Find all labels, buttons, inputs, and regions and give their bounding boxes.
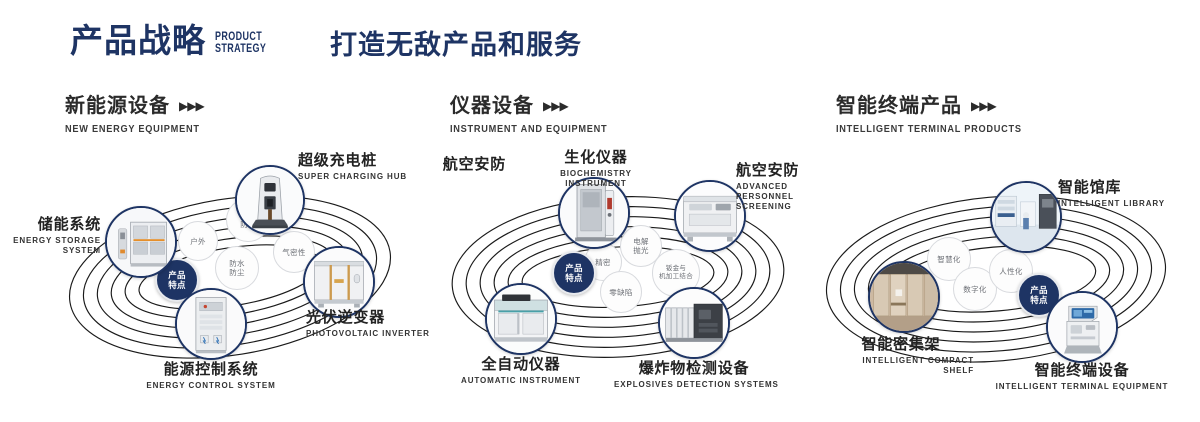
section-heading-cn: 智能终端产品 ▶▶▶ (836, 96, 1038, 116)
caption-cn: 超级充电桩 (298, 153, 407, 169)
caption-cn: 全自动仪器 (436, 357, 606, 373)
diagram-instrument: 精密 电解 抛光 钣金与 机加工结合 零缺陷 产品 特点 航空安防 (418, 155, 818, 405)
caption-cn: 能源控制系统 (86, 362, 336, 378)
caption-terminal-kiosk: 智能终端设备 INTELLIGENT TERMINAL EQUIPMENT (992, 363, 1172, 392)
section-heading-en: INSTRUMENT AND EQUIPMENT (450, 124, 607, 135)
feature-bubble-label: 零缺陷 (609, 288, 632, 297)
caption-en: PHOTOVOLTAIC INVERTER (306, 329, 430, 339)
caption-cn: 智能密集架 (796, 337, 1006, 353)
infographic-canvas: 产品战略 PRODUCT STRATEGY 打造无敌产品和服务 新能源设备 ▶▶… (0, 0, 1200, 422)
diagram-intelligent-terminal: 智慧化 数字化 人性化 产品 特点 (800, 155, 1200, 405)
feature-bubble-label: 户外 (190, 237, 206, 246)
node-photo-terminal-kiosk[interactable] (1046, 291, 1118, 363)
section-heading-instrument: 仪器设备 ▶▶▶ INSTRUMENT AND EQUIPMENT (450, 96, 621, 135)
node-photo-pv-inverter[interactable] (303, 246, 375, 318)
caption-en: EXPLOSIVES DETECTION SYSTEMS (614, 380, 774, 390)
terminal-kiosk-icon (1048, 293, 1116, 361)
node-photo-explosives-detector[interactable] (658, 287, 730, 359)
feature-bubble: 零缺陷 (600, 271, 642, 313)
core-badge-line1: 产品 (565, 263, 583, 273)
page-title-en-line1: PRODUCT (215, 32, 266, 44)
caption-cn: 智能终端设备 (992, 363, 1172, 379)
chevron-right-icon: ▶▶▶ (971, 100, 996, 112)
compact-shelf-icon (870, 263, 938, 331)
screening-machine-icon (676, 182, 744, 250)
caption-cn: 生化仪器 (526, 150, 666, 166)
section-heading-en: INTELLIGENT TERMINAL PRODUCTS (836, 124, 1022, 135)
section-heading-text: 新能源设备 (65, 96, 170, 116)
caption-aviation-security-left: 航空安防 (396, 157, 506, 173)
chevron-right-icon: ▶▶▶ (179, 100, 204, 112)
core-badge-line1: 产品 (1030, 285, 1048, 295)
core-badge-line2: 特点 (565, 273, 583, 283)
caption-cn: 光伏逆变器 (306, 310, 430, 326)
caption-cn: 爆炸物检测设备 (614, 361, 774, 377)
caption-en: ENERGY STORAGE SYSTEM (6, 236, 101, 256)
chevron-right-icon: ▶▶▶ (543, 100, 568, 112)
control-cabinet-icon (177, 290, 245, 358)
caption-cn: 储能系统 (6, 217, 101, 233)
node-photo-energy-control[interactable] (175, 288, 247, 360)
caption-energy-control: 能源控制系统 ENERGY CONTROL SYSTEM (86, 362, 336, 391)
caption-en: INTELLIGENT COMPACT SHELF (796, 356, 1006, 376)
caption-cn: 航空安防 (396, 157, 506, 173)
page-title-cn: 产品战略 (70, 24, 206, 57)
core-badge-product-features: 产品 特点 (552, 251, 596, 295)
section-heading-cn: 仪器设备 ▶▶▶ (450, 96, 621, 116)
caption-compact-shelf: 智能密集架 INTELLIGENT COMPACT SHELF (796, 337, 1006, 376)
page-subtitle: 打造无敌产品和服务 (330, 32, 582, 59)
feature-bubble: 防水 防尘 (215, 246, 259, 290)
feature-bubble: 户外 (178, 221, 218, 261)
section-heading-text: 智能终端产品 (836, 96, 962, 116)
section-heading-new-energy: 新能源设备 ▶▶▶ NEW ENERGY EQUIPMENT (65, 96, 211, 135)
feature-bubble-label: 数字化 (963, 285, 986, 294)
caption-en: ENERGY CONTROL SYSTEM (86, 381, 336, 391)
feature-bubble-label: 电解 抛光 (633, 237, 649, 255)
caption-charging-hub: 超级充电桩 SUPER CHARGING HUB (298, 153, 407, 182)
feature-bubble-label: 气密性 (282, 248, 305, 257)
node-photo-charging-hub[interactable] (235, 165, 305, 235)
caption-cn: 智能馆库 (1058, 180, 1165, 196)
node-photo-automatic-instrument[interactable] (485, 283, 557, 355)
section-heading-intelligent-terminal: 智能终端产品 ▶▶▶ INTELLIGENT TERMINAL PRODUCTS (836, 96, 1038, 135)
node-photo-smart-library[interactable] (990, 181, 1062, 253)
page-title-en-line2: STRATEGY (215, 44, 266, 56)
feature-bubble-label: 精密 (595, 258, 611, 267)
page-title-en: PRODUCT STRATEGY (215, 32, 266, 55)
pv-inverter-icon (305, 248, 373, 316)
caption-biochem-instrument: 生化仪器 BIOCHEMISTRY INSTRUMENT (526, 150, 666, 189)
caption-automatic-instrument: 全自动仪器 AUTOMATIC INSTRUMENT (436, 357, 606, 386)
automatic-instrument-icon (487, 285, 555, 353)
caption-en: INTELLIGENT LIBRARY (1058, 199, 1165, 209)
feature-bubble-label: 防水 防尘 (229, 259, 245, 277)
feature-bubble-label: 智慧化 (937, 255, 960, 264)
section-heading-en: NEW ENERGY EQUIPMENT (65, 124, 200, 135)
diagram-new-energy: 户外 防腐 防锈 防水 防尘 气密性 产品 特点 (30, 155, 430, 405)
page-title: 产品战略 PRODUCT STRATEGY (70, 24, 281, 57)
caption-en: INTELLIGENT TERMINAL EQUIPMENT (992, 382, 1172, 392)
charging-pile-icon (237, 167, 303, 233)
node-photo-energy-storage[interactable] (105, 206, 177, 278)
caption-en: SUPER CHARGING HUB (298, 172, 407, 182)
smart-library-icon (992, 183, 1060, 251)
biochem-instrument-icon (560, 179, 628, 247)
feature-bubble-label: 钣金与 机加工结合 (659, 265, 693, 281)
core-badge-line2: 特点 (168, 280, 186, 290)
node-photo-compact-shelf[interactable] (868, 261, 940, 333)
caption-en: AUTOMATIC INSTRUMENT (436, 376, 606, 386)
section-heading-text: 仪器设备 (450, 96, 534, 116)
caption-en: BIOCHEMISTRY INSTRUMENT (526, 169, 666, 189)
caption-pv-inverter: 光伏逆变器 PHOTOVOLTAIC INVERTER (306, 310, 430, 339)
caption-explosives-detector: 爆炸物检测设备 EXPLOSIVES DETECTION SYSTEMS (614, 361, 774, 390)
caption-smart-library: 智能馆库 INTELLIGENT LIBRARY (1058, 180, 1165, 209)
feature-bubble-label: 人性化 (999, 267, 1022, 276)
battery-cabinet-icon (107, 208, 175, 276)
caption-energy-storage: 储能系统 ENERGY STORAGE SYSTEM (6, 217, 101, 256)
explosives-detector-icon (660, 289, 728, 357)
core-badge-line2: 特点 (1030, 295, 1048, 305)
section-heading-cn: 新能源设备 ▶▶▶ (65, 96, 211, 116)
